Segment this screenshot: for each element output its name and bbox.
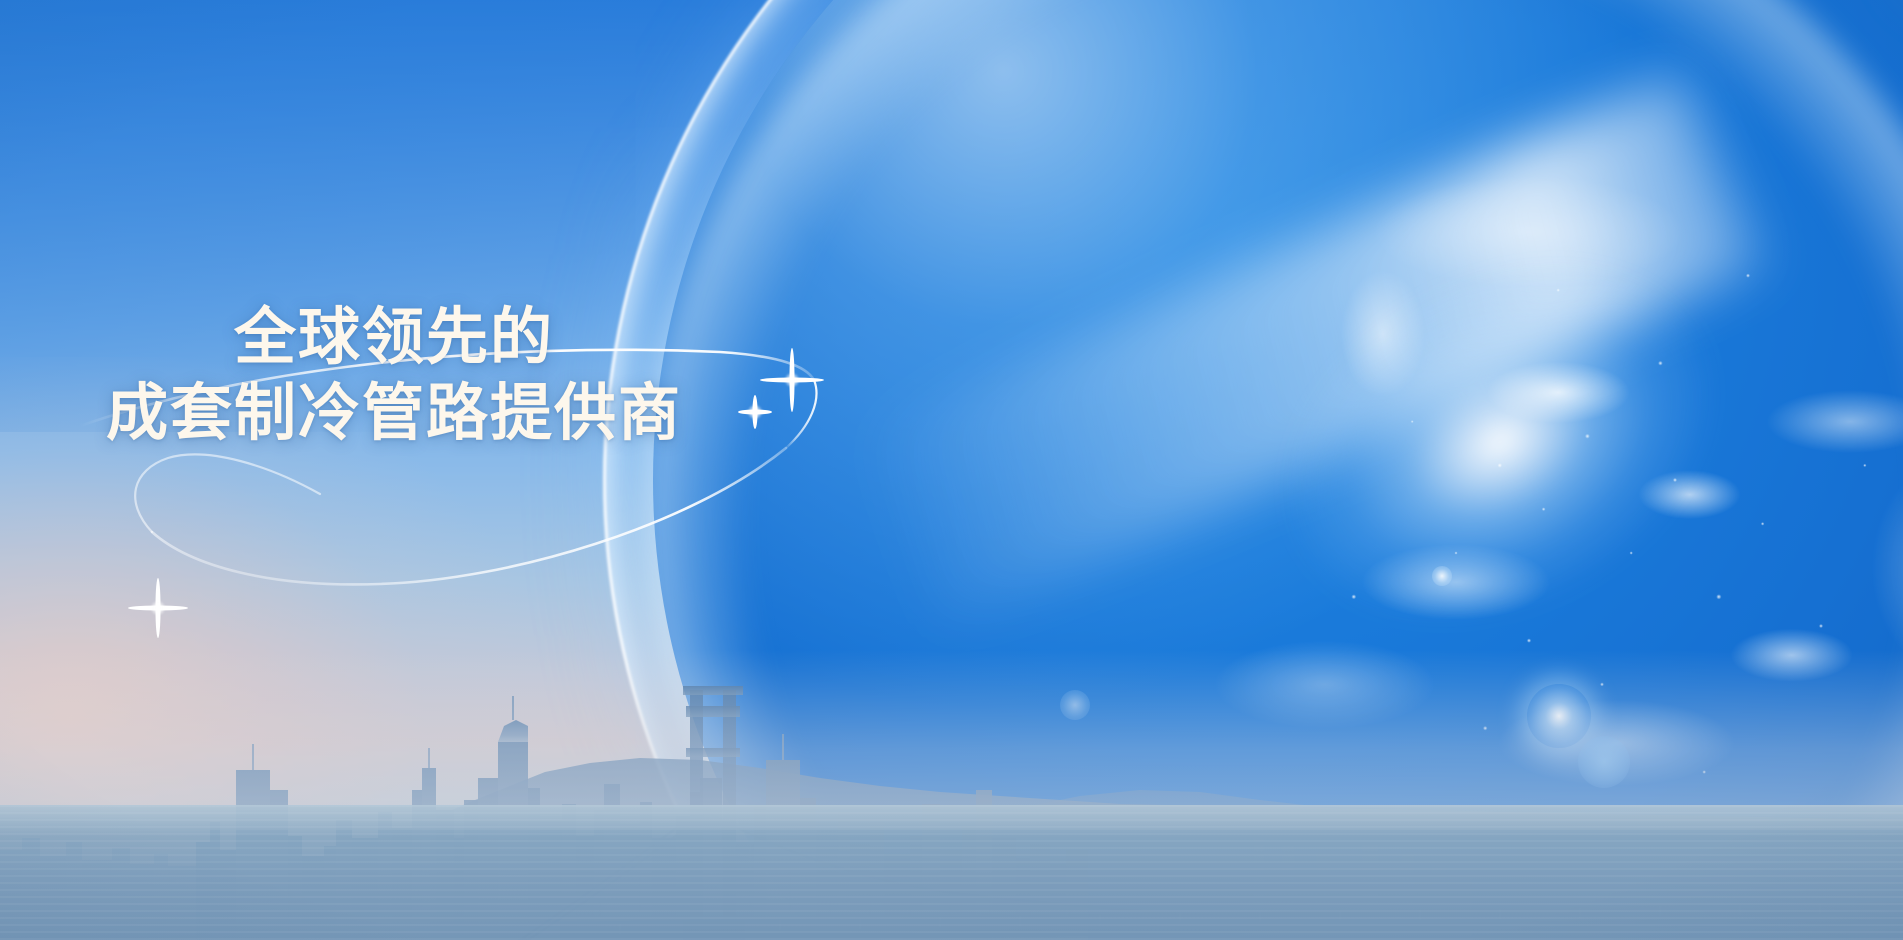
headline-line-1: 全球领先的: [234, 300, 806, 376]
headline-line-2: 成套制冷管路提供商: [106, 376, 806, 452]
hero-banner: 全球领先的 成套制冷管路提供商: [0, 0, 1903, 940]
hero-headline: 全球领先的 成套制冷管路提供商: [106, 300, 806, 452]
water-shimmer: [0, 805, 1903, 940]
